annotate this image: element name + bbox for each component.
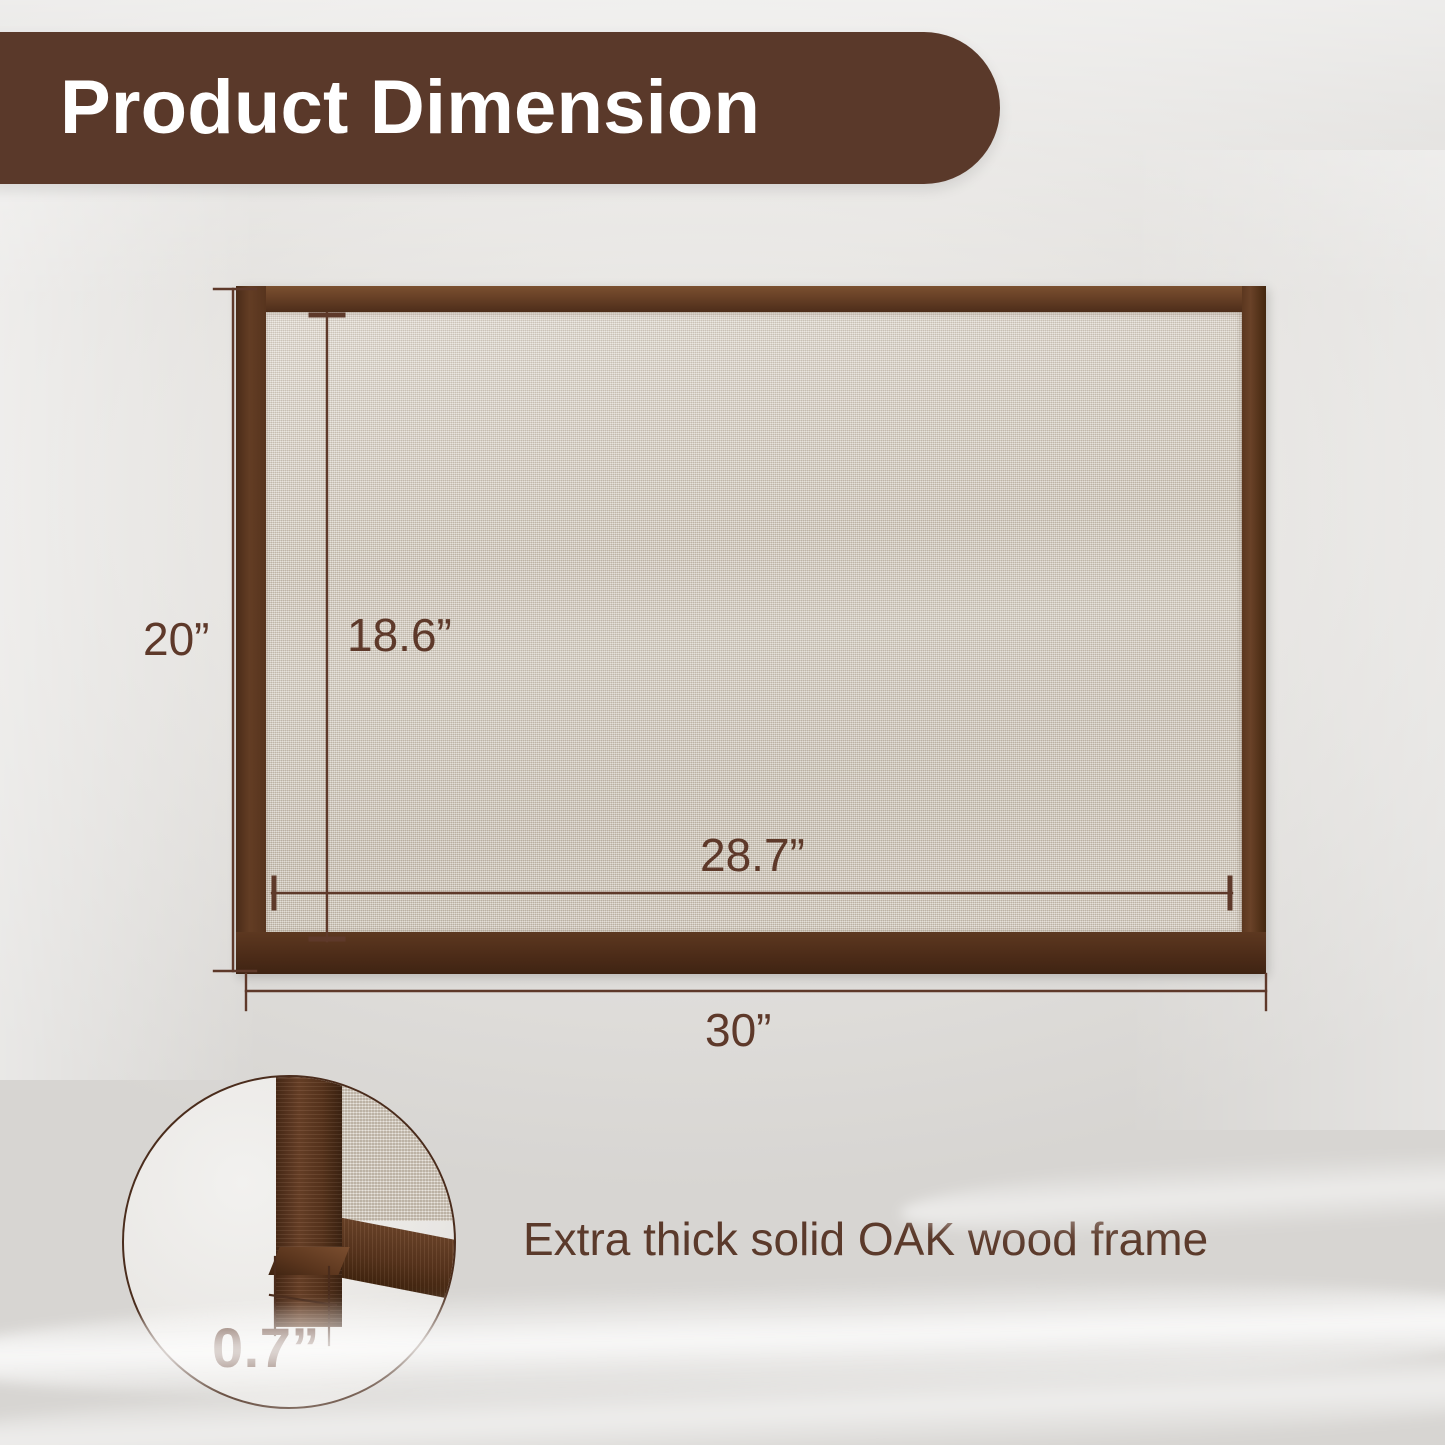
header-banner: Product Dimension <box>0 32 1000 184</box>
label-frame-thickness: 0.7” <box>212 1315 320 1380</box>
callout-dimline-span <box>270 1295 336 1305</box>
frame-rail-left <box>236 286 266 974</box>
product-dimension-infographic: Product Dimension <box>0 0 1445 1445</box>
page-title: Product Dimension <box>60 70 760 146</box>
label-outer-width: 30” <box>705 1003 771 1057</box>
label-inner-width: 28.7” <box>700 828 805 882</box>
frame-thickness-callout: 0.7” <box>122 1075 456 1409</box>
feature-caption: Extra thick solid OAK wood frame <box>523 1212 1208 1266</box>
frame-rail-right <box>1242 286 1266 974</box>
frame-rail-top <box>236 286 1266 312</box>
label-outer-height: 20” <box>143 612 209 666</box>
label-inner-height: 18.6” <box>347 608 452 662</box>
frame-rail-bottom <box>236 932 1266 974</box>
background-sheen-left <box>0 180 260 1080</box>
